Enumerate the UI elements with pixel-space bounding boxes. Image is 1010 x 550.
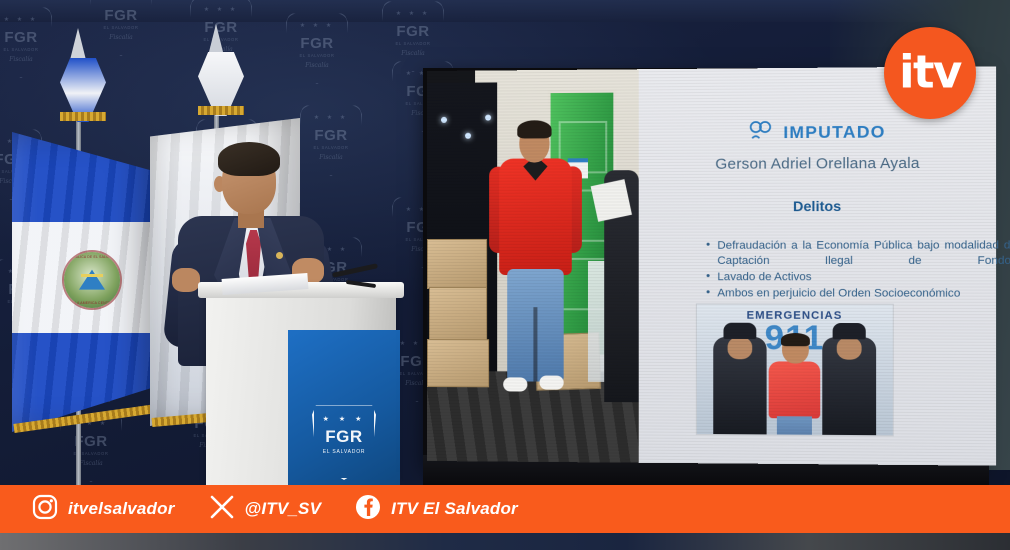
shield-script: Fiscalía — [0, 56, 52, 63]
itv-logo-text: itv — [884, 45, 976, 98]
shield-stars: ★ ★ ★ — [312, 415, 376, 423]
accused-name: Gerson Adriel Orellana Ayala — [641, 154, 996, 173]
social-handle: @ITV_SV — [245, 499, 322, 519]
emergency-label: EMERGENCIAS — [697, 309, 893, 322]
shield-title: FGR — [60, 434, 122, 449]
crimes-heading: Delitos — [641, 197, 996, 214]
flag-bow-fringe-institutional — [198, 106, 244, 115]
social-link-facebook[interactable]: ITV El Salvador — [355, 494, 518, 525]
shield-script: Fiscalía — [90, 34, 152, 41]
shield-script: Fiscalía — [60, 460, 122, 467]
suspect-hair — [517, 120, 551, 138]
photo-box — [427, 239, 487, 289]
arrest-suspect — [767, 335, 823, 435]
officer-face — [728, 337, 753, 359]
shield-title: FGR — [382, 24, 444, 39]
suspect-hair — [781, 333, 810, 346]
photo-box — [429, 287, 487, 341]
shield-sub: EL SALVADOR — [90, 25, 152, 30]
coat-top-text: REPUBLICA DE EL SALVADOR — [64, 255, 120, 259]
instagram-icon — [32, 494, 58, 525]
screenshot-stage: ★ ★ ★FGREL SALVADORFiscalía★ ★ ★FGREL SA… — [0, 0, 1010, 550]
shield-stars: ★ ★ ★ — [0, 17, 52, 23]
shield-sub: EL SALVADOR — [382, 41, 444, 46]
slide-photo-arrest: 911 EMERGENCIAS — [696, 303, 894, 436]
shield-title: FGR — [0, 30, 52, 45]
finial-institutional — [208, 24, 224, 56]
x-twitter-icon — [209, 494, 235, 525]
coat-triangle — [79, 270, 105, 290]
arrest-officer-right — [822, 337, 876, 435]
shield-script: Fiscalía — [286, 62, 348, 69]
slide-header-title: IMPUTADO — [783, 122, 885, 143]
photo-document — [591, 179, 632, 222]
shield-title: FGR — [312, 428, 376, 445]
suspect-left-shoe — [503, 377, 527, 391]
social-media-banner: itvelsalvador@ITV_SVITV El Salvador — [0, 485, 1010, 533]
finial-national — [70, 28, 86, 60]
shield-title: FGR — [300, 128, 362, 143]
shield-title: FGR — [286, 36, 348, 51]
social-link-x-twitter[interactable]: @ITV_SV — [209, 494, 322, 525]
crime-item: Defraudación a la Economía Pública bajo … — [706, 238, 1010, 269]
crime-item: Lavado de Activos — [706, 270, 1010, 285]
shield-stars: ★ ★ ★ — [90, 0, 152, 1]
backdrop-fgr-logo: ★ ★ ★FGREL SALVADORFiscalía — [90, 0, 152, 56]
crime-item: Ambos en perjuicio del Orden Socioeconóm… — [706, 286, 1010, 302]
flag-bow-fringe-national — [60, 112, 106, 121]
shield-sub: EL SALVADOR — [286, 53, 348, 58]
shield-stars: ★ ★ ★ — [382, 11, 444, 17]
slide-content: IMPUTADO Gerson Adriel Orellana Ayala De… — [641, 66, 996, 465]
shield-title: FGR — [90, 8, 152, 23]
shield-sub: EL SALVADOR — [312, 449, 376, 455]
itv-logo: itv — [884, 27, 976, 119]
crimes-list: Defraudación a la Economía Pública bajo … — [665, 238, 1010, 302]
officer-face — [837, 337, 862, 359]
backdrop-fgr-logo: ★ ★ ★FGREL SALVADORFiscalía — [286, 12, 348, 84]
two-people-icon — [749, 121, 772, 144]
backdrop-fgr-logo: ★ ★ ★FGREL SALVADORFiscalía — [300, 104, 362, 176]
slide-header-row: IMPUTADO — [641, 120, 996, 145]
coat-ray — [81, 274, 103, 277]
officer-cap — [833, 323, 866, 339]
shield-sub: EL SALVADOR — [300, 145, 362, 150]
photo-box — [427, 339, 489, 387]
arrest-officer-left — [713, 337, 766, 435]
shield-stars: ★ ★ ★ — [190, 7, 252, 13]
below-banner-strip — [0, 533, 1010, 550]
social-handle: ITV El Salvador — [391, 499, 518, 519]
flag-el-salvador: REPUBLICA DE EL SALVADOR EN LA AMERICA C… — [12, 132, 164, 432]
coat-bottom-text: EN LA AMERICA CENTRAL — [64, 301, 120, 305]
shield-stars: ★ ★ ★ — [300, 115, 362, 121]
speaker-hair — [218, 142, 280, 176]
suspect-leg-gap — [533, 307, 537, 381]
podium-fgr-logo: ★ ★ ★ FGR EL SALVADOR — [312, 404, 376, 480]
projection-screen: IMPUTADO Gerson Adriel Orellana Ayala De… — [427, 66, 996, 465]
social-link-instagram[interactable]: itvelsalvador — [32, 494, 175, 525]
speaker-lapel-pin — [276, 252, 283, 259]
speaker-left-hand — [172, 268, 200, 292]
photo-ceiling-lights — [435, 111, 495, 151]
officer-cap — [723, 323, 756, 339]
facebook-icon — [355, 494, 381, 525]
shield-stars: ★ ★ ★ — [286, 23, 348, 29]
slide-photo-suspect-scene — [427, 69, 639, 463]
suspect-right-shoe — [539, 376, 563, 390]
suspect-pants — [777, 416, 812, 436]
shield-sub: EL SALVADOR — [60, 451, 122, 456]
shield-script: Fiscalía — [300, 154, 362, 161]
shield-sub: EL SALVADOR — [0, 47, 52, 52]
shield-script: Fiscalía — [382, 50, 444, 57]
social-handle: itvelsalvador — [68, 499, 175, 519]
backdrop-fgr-logo: ★ ★ ★FGREL SALVADORFiscalía — [0, 6, 52, 78]
suspect-red-jacket — [769, 361, 821, 418]
coat-of-arms: REPUBLICA DE EL SALVADOR EN LA AMERICA C… — [64, 252, 120, 308]
